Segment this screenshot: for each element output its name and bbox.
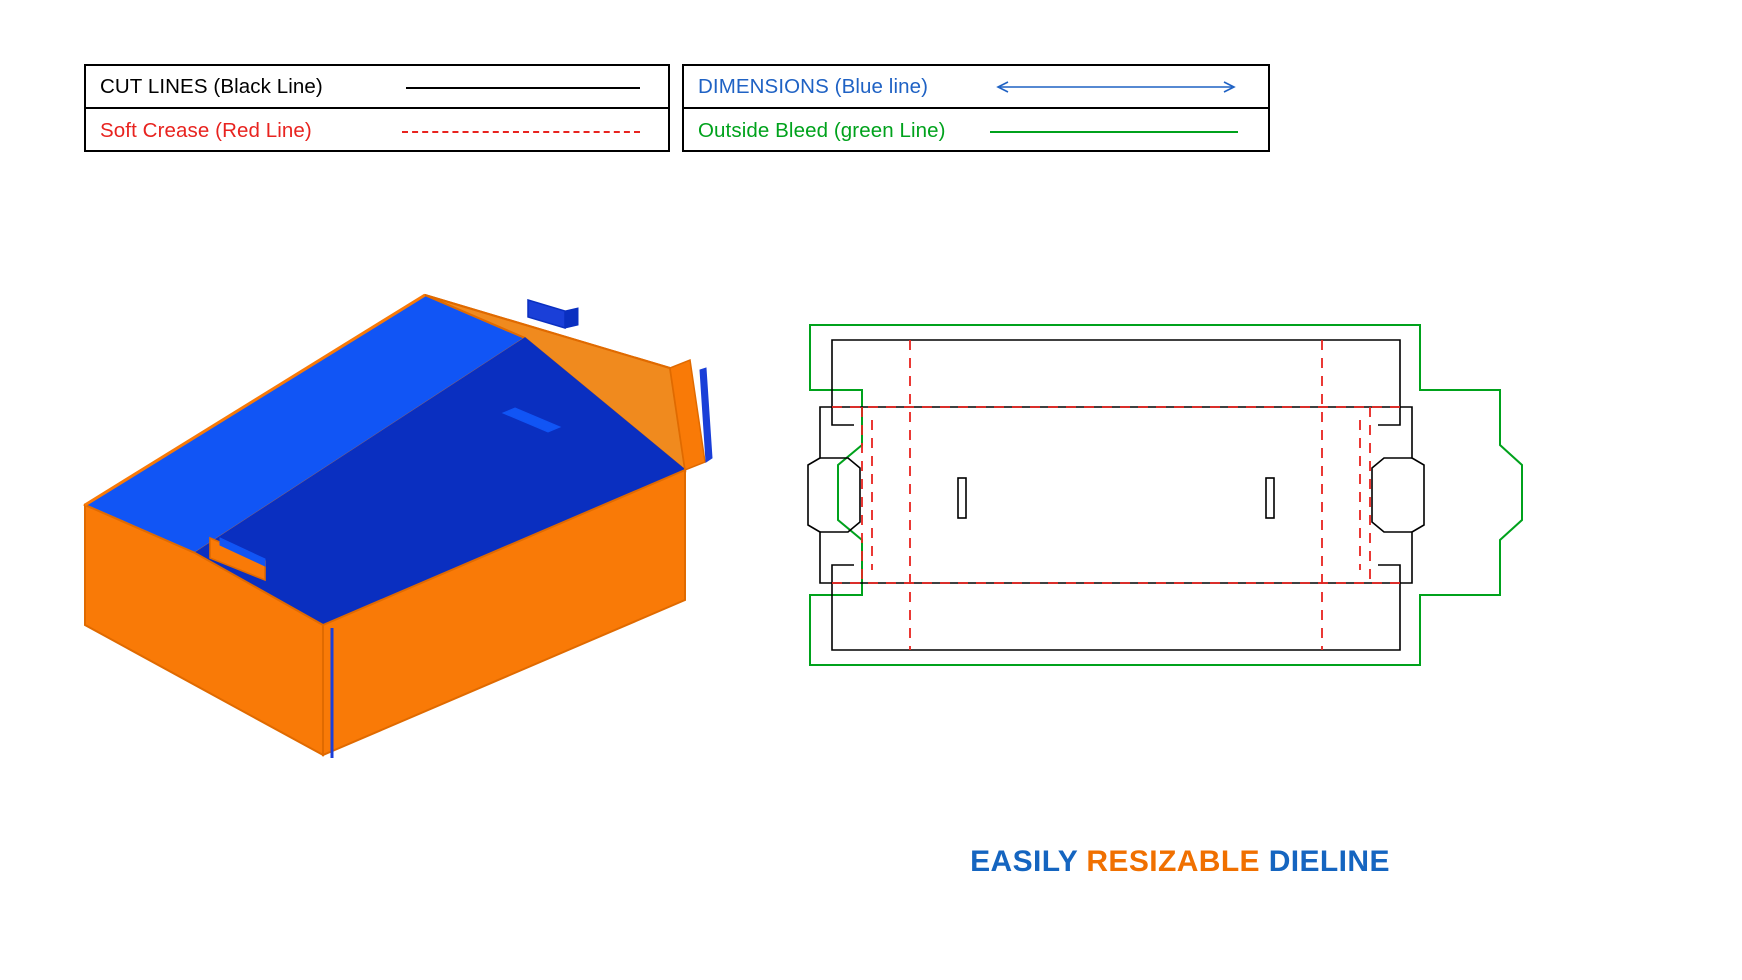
caption-word-resizable: RESIZABLE <box>1086 845 1260 878</box>
box-top-blue-tab <box>528 300 565 328</box>
legend-row-outside-bleed: Outside Bleed (green Line) <box>684 109 1268 152</box>
legend-label-outside-bleed: Outside Bleed (green Line) <box>684 119 946 143</box>
legend-row-dimensions: DIMENSIONS (Blue line) <box>684 66 1268 109</box>
legend-label-dimensions: DIMENSIONS (Blue line) <box>684 75 928 99</box>
bleed-line-sample-icon <box>990 131 1238 133</box>
legend-row-soft-crease: Soft Crease (Red Line) <box>86 109 668 152</box>
box-3d-svg <box>60 280 760 770</box>
cut-outline <box>808 340 1424 650</box>
bleed-outline <box>810 325 1522 665</box>
box-3d-illustration <box>60 280 760 770</box>
caption-word-easily: EASILY <box>970 845 1077 878</box>
dieline-drawing <box>800 290 1560 730</box>
dieline-svg <box>800 290 1560 730</box>
dimension-arrow-sample-icon <box>992 80 1240 94</box>
legend-label-soft-crease: Soft Crease (Red Line) <box>86 119 312 143</box>
caption-easily-resizable-dieline: EASILY RESIZABLE DIELINE <box>800 845 1560 879</box>
cut-line-sample-icon <box>406 87 640 89</box>
legend-dimensions-bleed: DIMENSIONS (Blue line) Outside Bleed (gr… <box>682 64 1270 152</box>
legend-cut-crease: CUT LINES (Black Line) Soft Crease (Red … <box>84 64 670 152</box>
box-top-blue-tab-side <box>565 308 578 328</box>
crease-line-sample-icon <box>402 131 640 133</box>
crease-lines <box>832 340 1400 650</box>
legend-label-cut-lines: CUT LINES (Black Line) <box>86 75 323 99</box>
legend-row-cut-lines: CUT LINES (Black Line) <box>86 66 668 109</box>
caption-word-dieline: DIELINE <box>1269 845 1390 878</box>
